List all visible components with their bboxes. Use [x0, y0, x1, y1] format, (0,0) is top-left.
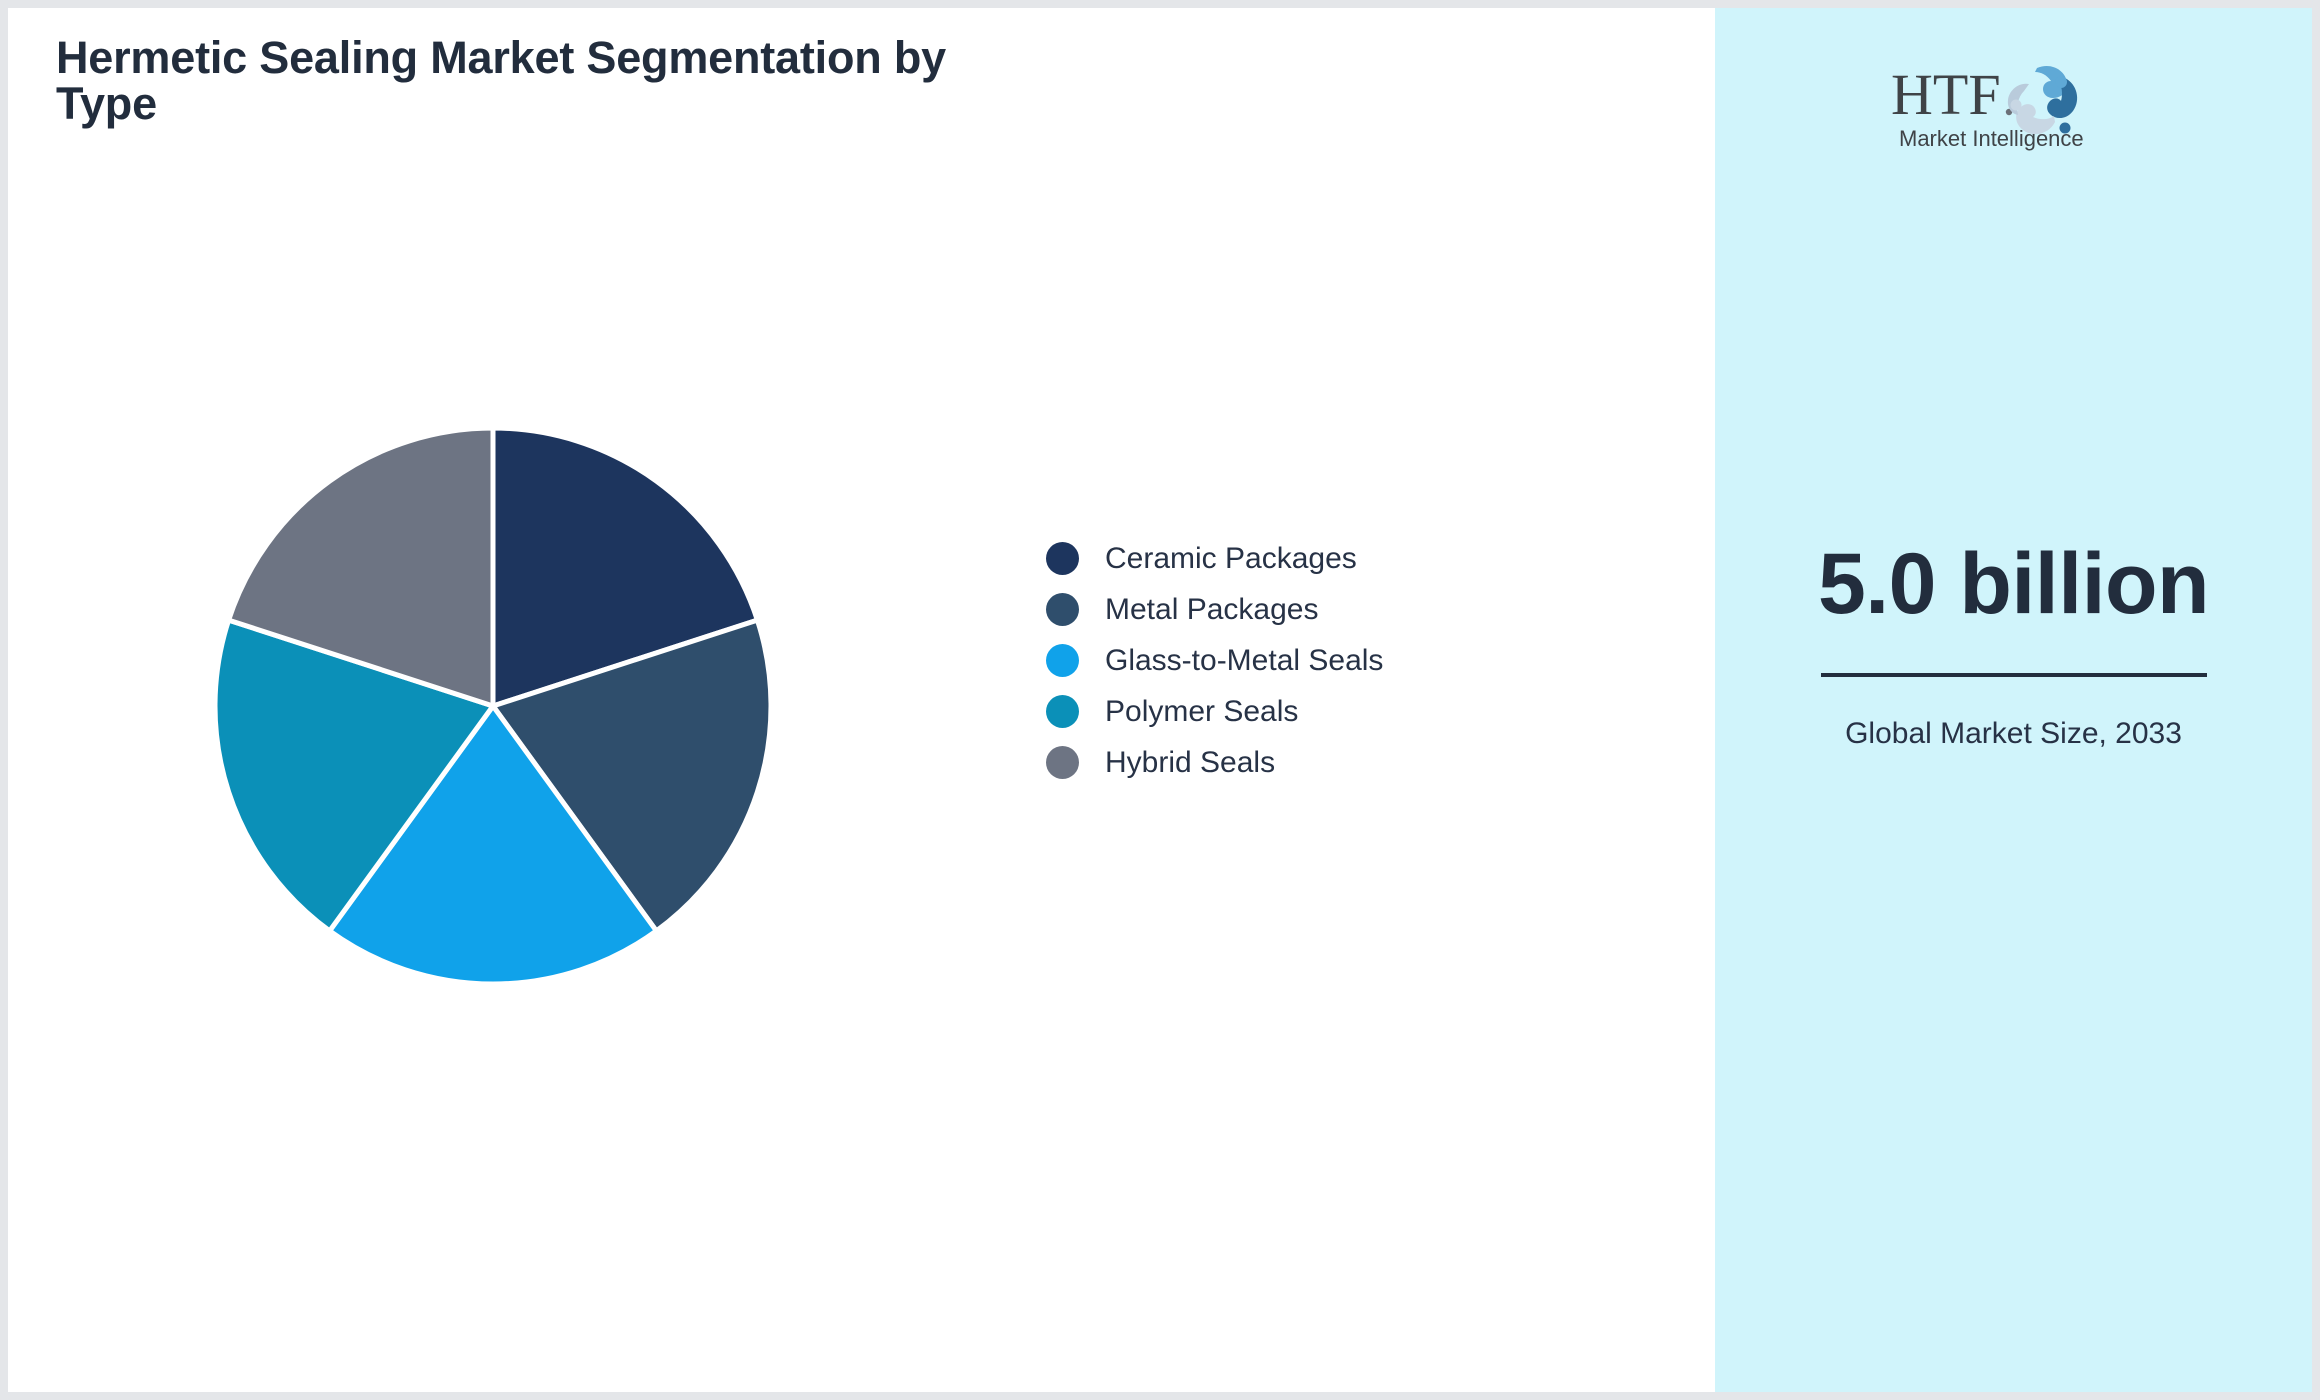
stat-panel: HTF Market Intelligence 5.0 billion	[1715, 8, 2312, 1392]
legend-item[interactable]: Ceramic Packages	[1046, 533, 1606, 584]
legend-item[interactable]: Polymer Seals	[1046, 686, 1606, 737]
legend-item[interactable]: Glass-to-Metal Seals	[1046, 635, 1606, 686]
legend-item[interactable]: Hybrid Seals	[1046, 737, 1606, 788]
legend-item-label: Ceramic Packages	[1105, 544, 1357, 574]
stat-value: 5.0 billion	[1804, 538, 2224, 631]
stat-block: 5.0 billion Global Market Size, 2033	[1804, 538, 2224, 753]
chart-panel: Hermetic Sealing Market Segmentation by …	[8, 8, 1715, 1392]
stat-divider	[1821, 673, 2207, 677]
stat-caption: Global Market Size, 2033	[1804, 715, 2224, 753]
legend-item-label: Glass-to-Metal Seals	[1105, 646, 1383, 676]
legend-swatch-icon	[1046, 593, 1079, 626]
legend-item-label: Hybrid Seals	[1105, 748, 1275, 778]
legend-item-label: Metal Packages	[1105, 595, 1318, 625]
legend-swatch-icon	[1046, 746, 1079, 779]
pie-chart-svg	[207, 420, 779, 992]
page-title: Hermetic Sealing Market Segmentation by …	[56, 35, 956, 128]
legend-swatch-icon	[1046, 542, 1079, 575]
infographic-card: Hermetic Sealing Market Segmentation by …	[8, 8, 2312, 1392]
htf-logo-icon: HTF Market Intelligence	[1889, 56, 2139, 152]
logo-tagline-text: Market Intelligence	[1899, 126, 2084, 151]
legend-swatch-icon	[1046, 644, 1079, 677]
chart-legend: Ceramic PackagesMetal PackagesGlass-to-M…	[1046, 533, 1606, 788]
htf-logo: HTF Market Intelligence	[1889, 56, 2139, 152]
legend-item-label: Polymer Seals	[1105, 697, 1298, 727]
logo-wordmark-text: HTF	[1891, 62, 2001, 127]
legend-swatch-icon	[1046, 695, 1079, 728]
legend-item[interactable]: Metal Packages	[1046, 584, 1606, 635]
pie-chart	[207, 420, 779, 992]
